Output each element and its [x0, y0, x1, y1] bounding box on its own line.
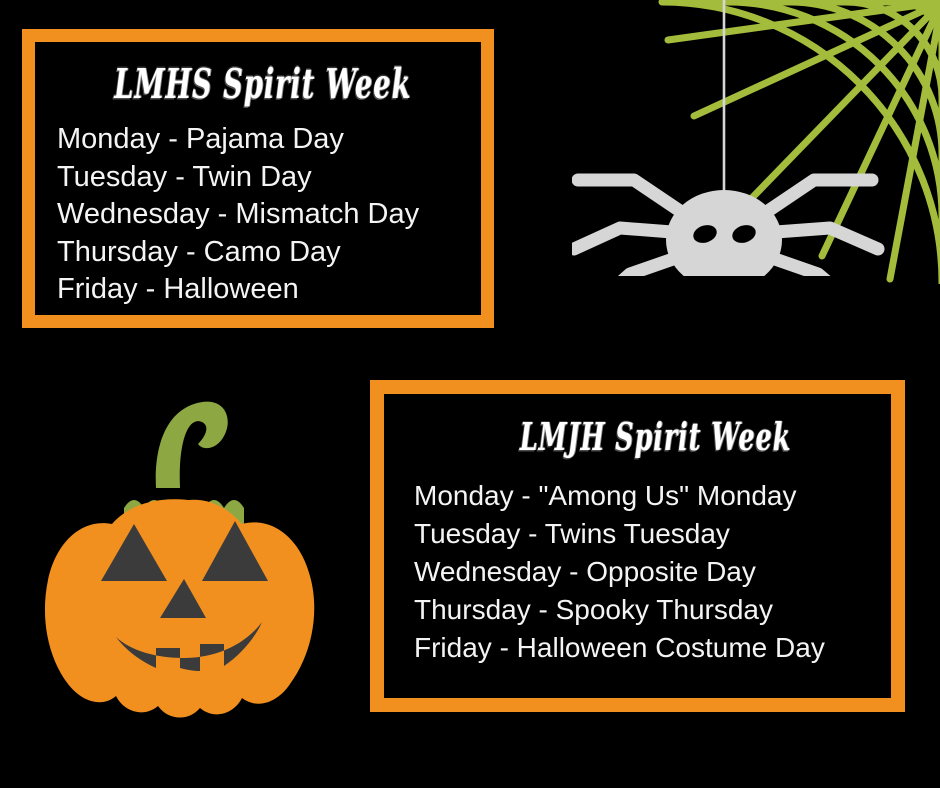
- hanging-spider-icon: [572, 0, 902, 276]
- day-item: Monday - Pajama Day: [57, 121, 463, 159]
- day-item: Wednesday - Opposite Day: [414, 553, 871, 591]
- day-item: Friday - Halloween Costume Day: [414, 629, 871, 667]
- pumpkin-nose: [160, 579, 206, 618]
- panel-inner-lmjh: LMJH Spirit Week Monday - "Among Us" Mon…: [384, 394, 891, 698]
- day-item: Thursday - Spooky Thursday: [414, 591, 871, 629]
- day-item: Friday - Halloween: [57, 271, 463, 309]
- day-item: Wednesday - Mismatch Day: [57, 196, 463, 234]
- day-list-lmjh: Monday - "Among Us" Monday Tuesday - Twi…: [406, 477, 871, 667]
- pumpkin-collar: [124, 500, 244, 526]
- spider-left-eye: [691, 222, 719, 246]
- pumpkin-body: [45, 499, 314, 717]
- spider-right-eye: [730, 222, 758, 246]
- day-item: Tuesday - Twin Day: [57, 159, 463, 197]
- pumpkin-stem: [156, 402, 228, 488]
- day-item: Monday - "Among Us" Monday: [414, 477, 871, 515]
- halloween-spirit-week-poster: LMHS Spirit Week Monday - Pajama Day Tue…: [0, 0, 940, 788]
- day-item: Tuesday - Twins Tuesday: [414, 515, 871, 553]
- day-item: Thursday - Camo Day: [57, 234, 463, 272]
- spider-web-icon: [590, 0, 940, 284]
- panel-title-lmjh: LMJH Spirit Week: [420, 419, 857, 457]
- pumpkin-right-eye: [202, 521, 268, 581]
- spirit-week-panel-lmjh: LMJH Spirit Week Monday - "Among Us" Mon…: [370, 380, 905, 712]
- pumpkin-left-eye: [101, 524, 167, 581]
- day-list-lmhs: Monday - Pajama Day Tuesday - Twin Day W…: [53, 121, 463, 309]
- panel-inner-lmhs: LMHS Spirit Week Monday - Pajama Day Tue…: [35, 42, 481, 315]
- panel-title-lmhs: LMHS Spirit Week: [65, 64, 450, 105]
- jack-o-lantern-icon: [28, 396, 348, 726]
- spider-body: [666, 190, 782, 276]
- pumpkin-mouth: [116, 622, 262, 671]
- spirit-week-panel-lmhs: LMHS Spirit Week Monday - Pajama Day Tue…: [22, 29, 494, 328]
